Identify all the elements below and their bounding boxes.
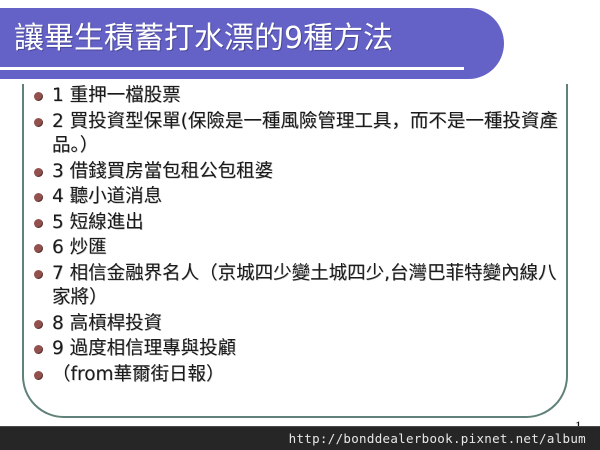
bullet-dot-icon bbox=[34, 244, 43, 253]
list-item: 9 過度相信理專與投顧 bbox=[30, 337, 575, 362]
list-item-label: 4 聽小道消息 bbox=[52, 185, 575, 210]
bullet-dot-icon bbox=[34, 345, 43, 354]
list-item: （from華爾街日報） bbox=[30, 363, 575, 388]
list-item-label: 8 高槓桿投資 bbox=[52, 312, 575, 337]
bullet-dot-icon bbox=[34, 193, 43, 202]
list-item: 3 借錢買房當包租公包租婆 bbox=[30, 160, 575, 185]
page-title: 讓畢生積蓄打水漂的9種方法 bbox=[14, 14, 393, 64]
list-item-label: 9 過度相信理專與投顧 bbox=[52, 337, 575, 362]
bullet-list: 1 重押一檔股票 2 買投資型保單(保險是一種風險管理工具，而不是一種投資產品。… bbox=[30, 84, 575, 388]
bullet-dot-icon bbox=[34, 219, 43, 228]
list-item: 8 高槓桿投資 bbox=[30, 312, 575, 337]
list-item: 1 重押一檔股票 bbox=[30, 84, 575, 109]
list-item: 2 買投資型保單(保險是一種風險管理工具，而不是一種投資產品。） bbox=[30, 110, 575, 159]
bullet-dot-icon bbox=[34, 371, 43, 380]
list-item-label: 1 重押一檔股票 bbox=[52, 84, 575, 109]
watermark-url-text: http://bonddealerbook.pixnet.net/album bbox=[289, 431, 600, 446]
bullet-dot-icon bbox=[34, 270, 43, 279]
list-item: 4 聽小道消息 bbox=[30, 185, 575, 210]
bullet-dot-icon bbox=[34, 92, 43, 101]
bullet-dot-icon bbox=[34, 118, 43, 127]
watermark-url-band: http://bonddealerbook.pixnet.net/album bbox=[0, 426, 600, 450]
list-item-label: 2 買投資型保單(保險是一種風險管理工具，而不是一種投資產品。） bbox=[52, 110, 575, 159]
list-item: 6 炒匯 bbox=[30, 236, 575, 261]
presentation-slide: 讓畢生積蓄打水漂的9種方法 1 重押一檔股票 2 買投資型保單(保險是一種風險管… bbox=[0, 0, 600, 450]
bullet-dot-icon bbox=[34, 320, 43, 329]
slide-title-banner: 讓畢生積蓄打水漂的9種方法 bbox=[0, 8, 504, 79]
list-item-label: 3 借錢買房當包租公包租婆 bbox=[52, 160, 575, 185]
list-item-label: 6 炒匯 bbox=[52, 236, 575, 261]
list-item: 7 相信金融界名人（京城四少變土城四少,台灣巴菲特變內線八家將） bbox=[30, 262, 575, 311]
list-item-label: （from華爾街日報） bbox=[52, 363, 575, 388]
list-item: 5 短線進出 bbox=[30, 211, 575, 236]
bullet-dot-icon bbox=[34, 168, 43, 177]
list-item-label: 7 相信金融界名人（京城四少變土城四少,台灣巴菲特變內線八家將） bbox=[52, 262, 575, 311]
list-item-label: 5 短線進出 bbox=[52, 211, 575, 236]
